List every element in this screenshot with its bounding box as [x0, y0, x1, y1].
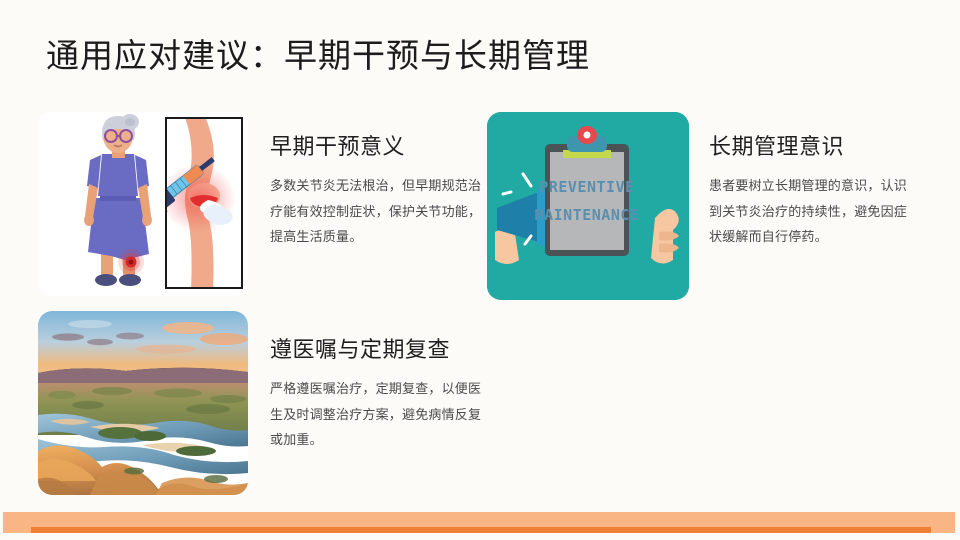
- clipboard-line-2: MAINTENANCE: [535, 206, 640, 224]
- figure-elderly-knee-pain: [38, 112, 248, 296]
- page-title: 通用应对建议：早期干预与长期管理: [46, 37, 590, 78]
- slide-canvas: 通用应对建议：早期干预与长期管理: [0, 0, 960, 540]
- elderly-knee-pain-illustration-icon: [38, 112, 248, 296]
- content-block-early-intervention: 早期干预意义 多数关节炎无法根治，但早期规范治疗能有效控制症状，保护关节功能，提…: [38, 112, 485, 296]
- block-body: 患者要树立长期管理的意识，认识到关节炎治疗的持续性，避免因症状缓解而自行停药。: [709, 173, 914, 249]
- block-body: 严格遵医嘱治疗，定期复查，以便医生及时调整治疗方案，避免病情反复或加重。: [270, 376, 485, 452]
- content-block-follow-doctor-advice: 遵医嘱与定期复查 严格遵医嘱治疗，定期复查，以便医生及时调整治疗方案，避免病情反…: [38, 311, 485, 495]
- text-long-term-management: 长期管理意识 患者要树立长期管理的意识，认识到关节炎治疗的持续性，避免因症状缓解…: [709, 112, 914, 249]
- text-early-intervention: 早期干预意义 多数关节炎无法根治，但早期规范治疗能有效控制症状，保护关节功能，提…: [270, 112, 485, 249]
- clipboard-line-1: PREVENTIVE: [539, 178, 634, 196]
- figure-sunset-river-landscape: [38, 311, 248, 495]
- text-follow-doctor-advice: 遵医嘱与定期复查 严格遵医嘱治疗，定期复查，以便医生及时调整治疗方案，避免病情反…: [270, 311, 485, 452]
- preventive-maintenance-clipboard-illustration-icon: PREVENTIVE MAINTENANCE: [487, 112, 689, 300]
- sunset-river-landscape-photo-icon: [38, 311, 248, 495]
- footer-accent-stripe: [31, 527, 931, 533]
- content-block-long-term-management: PREVENTIVE MAINTENANCE 长期管理意识 患者要树立长期管理的…: [487, 112, 914, 300]
- block-heading: 遵医嘱与定期复查: [270, 337, 485, 363]
- figure-preventive-maintenance: PREVENTIVE MAINTENANCE: [487, 112, 689, 300]
- block-heading: 长期管理意识: [709, 134, 914, 160]
- block-heading: 早期干预意义: [270, 134, 485, 160]
- block-body: 多数关节炎无法根治，但早期规范治疗能有效控制症状，保护关节功能，提高生活质量。: [270, 173, 485, 249]
